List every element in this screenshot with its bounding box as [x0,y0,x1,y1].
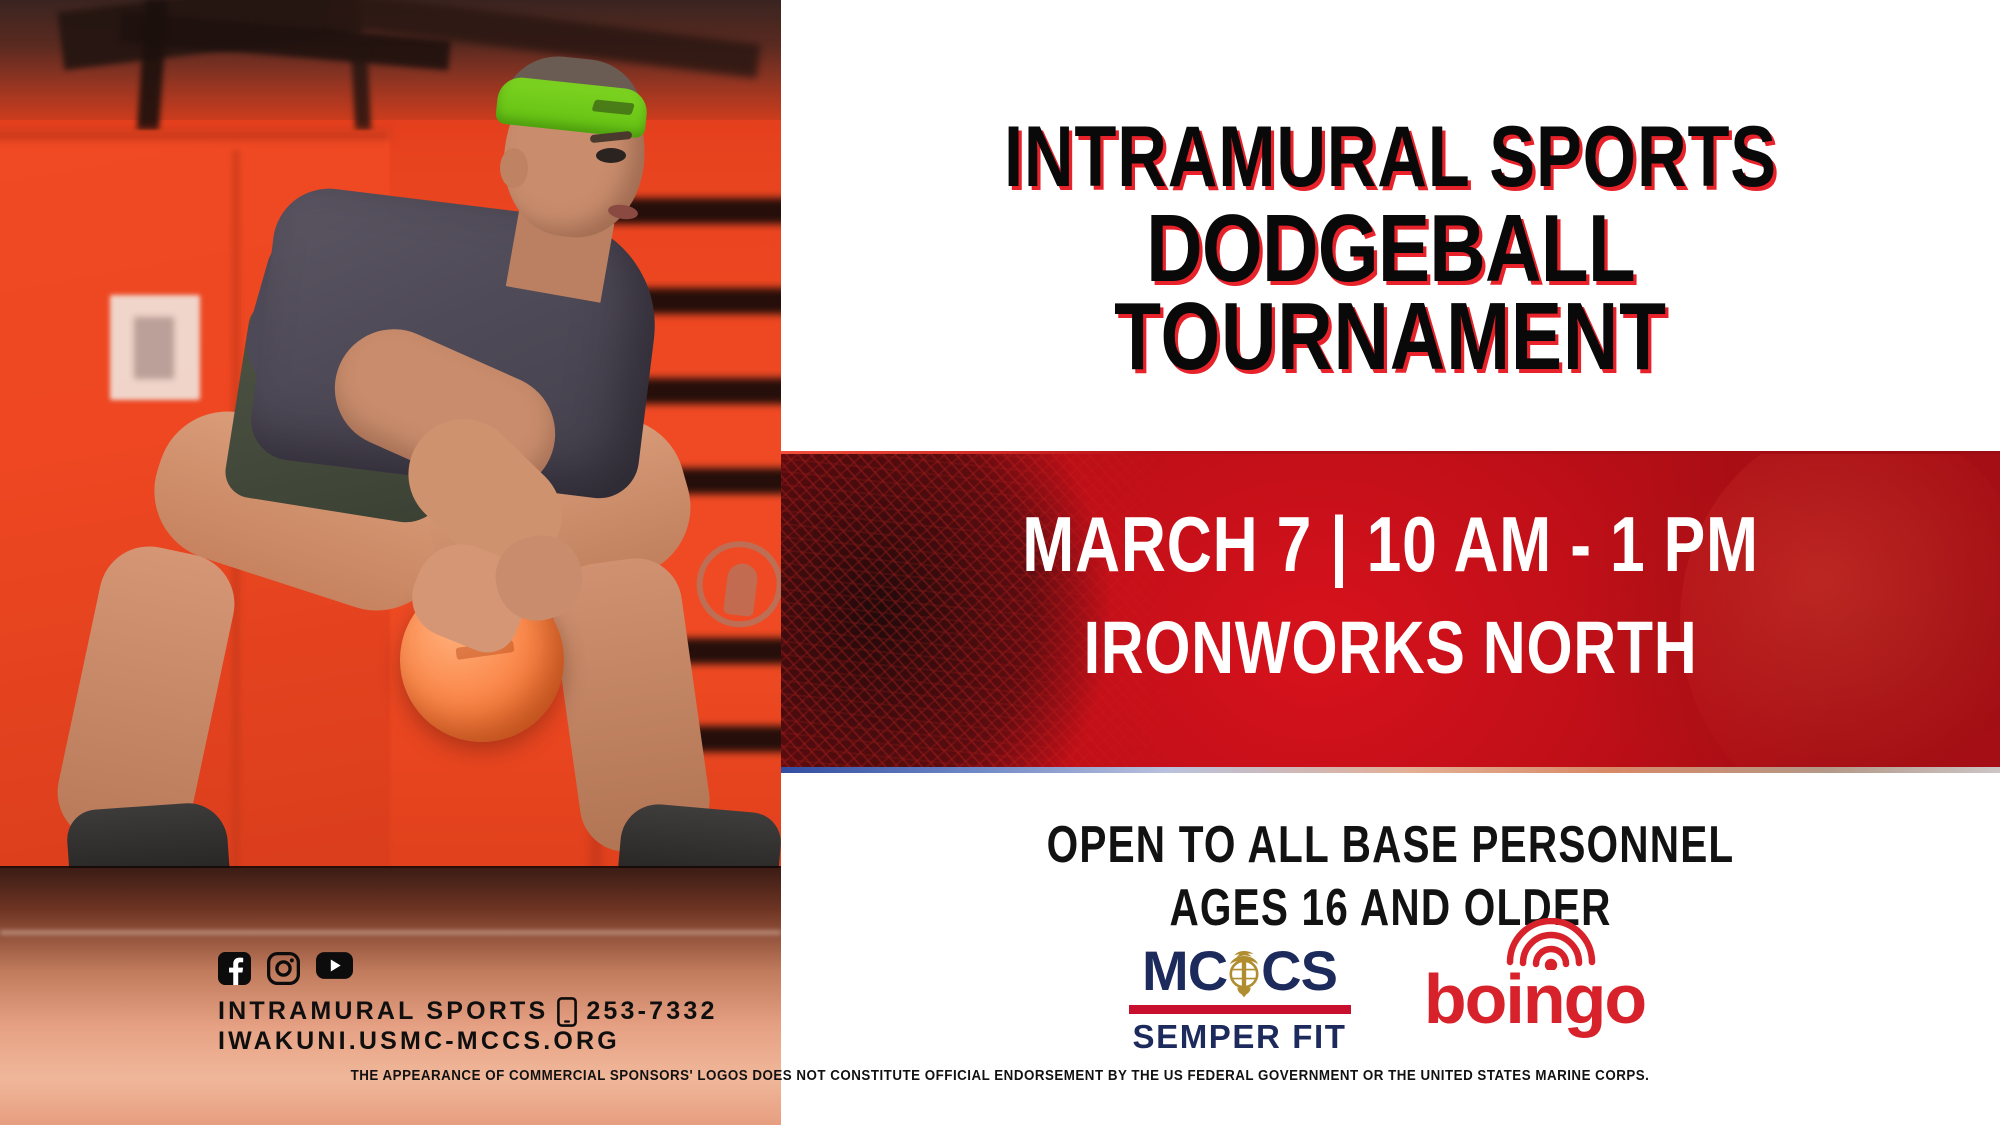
event-datetime: MARCH 7 | 10 AM - 1 PM [903,505,1878,583]
social-icons-row [218,952,718,985]
eagle-globe-anchor-icon [1218,943,1270,999]
banner-bottom-edge [781,767,2000,773]
sponsor-disclaimer: THE APPEARANCE OF COMMERCIAL SPONSORS' L… [80,1068,1920,1084]
mobile-phone-icon [557,997,577,1027]
sponsor-logos-row: MC CS [781,942,2000,1056]
event-location: IRONWORKS NORTH [903,611,1878,685]
contact-org-phone: INTRAMURAL SPORTS 253-7332 [218,997,718,1027]
mccs-wordmark-left: MC [1142,943,1227,999]
athlete-eye [596,148,626,163]
eligibility-line-2: AGES 16 AND OLDER [915,877,1866,940]
boingo-wordmark: boingo [1417,964,1653,1034]
athlete-ear [500,148,528,188]
floor-court-line [0,930,781,935]
instagram-icon[interactable] [267,952,300,985]
eligibility-block: OPEN TO ALL BASE PERSONNEL AGES 16 AND O… [781,814,2000,941]
mccs-tagline: SEMPER FIT [1129,1018,1351,1056]
shirt-graphic [692,536,781,632]
banner-text-group: MARCH 7 | 10 AM - 1 PM IRONWORKS NORTH [781,451,2000,773]
mccs-wordmark: MC CS [1129,942,1351,1000]
mccs-wordmark-right: CS [1261,943,1337,999]
photo-panel: INTRAMURAL SPORTS 253-7332 IWAKUNI.USMC-… [0,0,781,1125]
event-details-banner: MARCH 7 | 10 AM - 1 PM IRONWORKS NORTH [781,451,2000,773]
headband-logo [591,99,635,115]
poster-root: INTRAMURAL SPORTS 253-7332 IWAKUNI.USMC-… [0,0,2000,1125]
contact-org-label: INTRAMURAL SPORTS [218,997,548,1027]
wifi-arcs-icon [1503,918,1599,970]
youtube-icon[interactable] [316,952,349,985]
boingo-logo[interactable]: boingo [1417,964,1653,1034]
mccs-semper-fit-logo[interactable]: MC CS [1129,942,1351,1056]
mccs-red-rule [1129,1005,1351,1014]
poster-headline: INTRAMURAL SPORTS DODGEBALL TOURNAMENT [781,118,2000,382]
headline-line-2: DODGEBALL TOURNAMENT [903,205,1878,382]
headline-emphasis: DODGEBALL [1146,205,1635,293]
contact-phone-number[interactable]: 253-7332 [586,997,717,1027]
eligibility-line-1: OPEN TO ALL BASE PERSONNEL [915,814,1866,877]
headline-line-1: INTRAMURAL SPORTS [903,118,1878,197]
contact-block: INTRAMURAL SPORTS 253-7332 IWAKUNI.USMC-… [218,952,718,1057]
info-panel: INTRAMURAL SPORTS DODGEBALL TOURNAMENT M… [781,0,2000,1125]
contact-website[interactable]: IWAKUNI.USMC-MCCS.ORG [218,1027,718,1057]
facebook-icon[interactable] [218,952,251,985]
